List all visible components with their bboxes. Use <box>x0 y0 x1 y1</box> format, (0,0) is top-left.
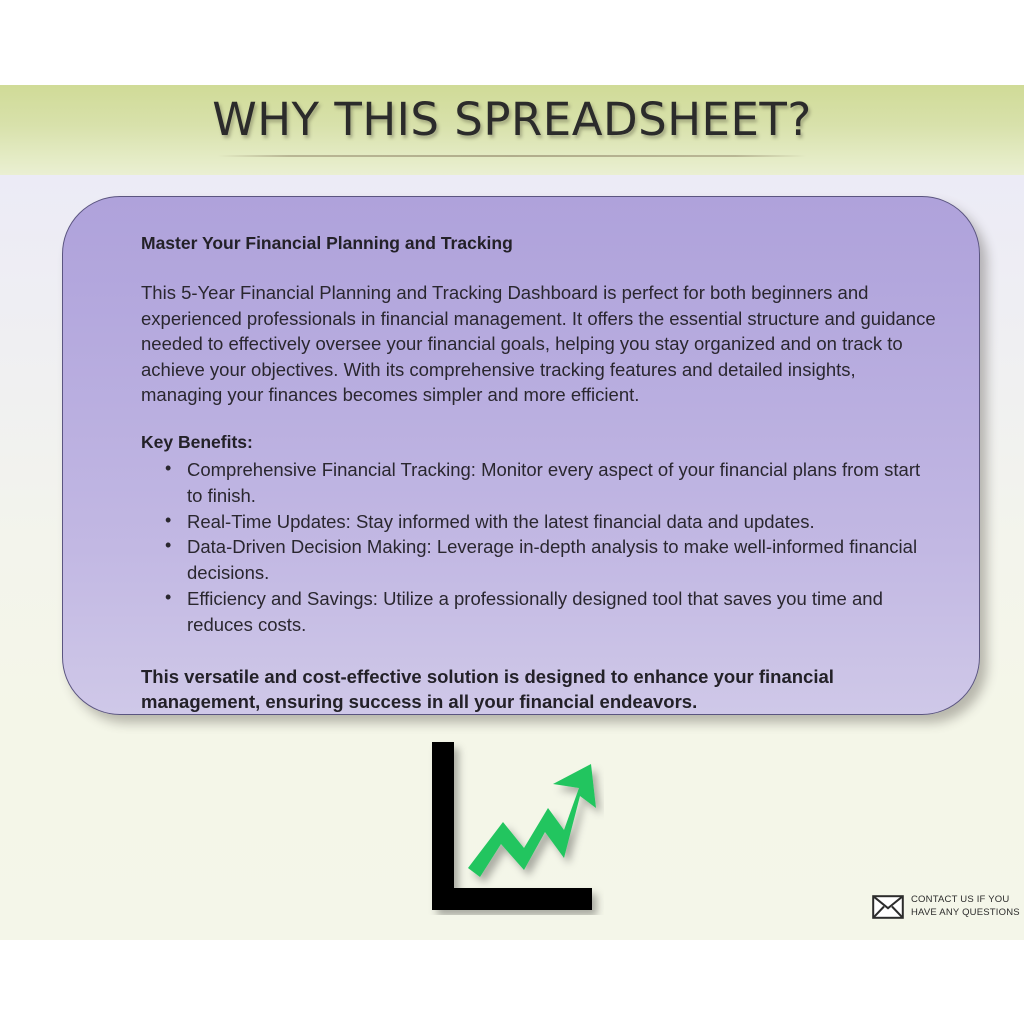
list-item-label: Real-Time Updates: Stay informed with th… <box>187 511 815 532</box>
closing-statement: This versatile and cost-effective soluti… <box>141 664 939 715</box>
contact-text: CONTACT US IF YOU HAVE ANY QUESTIONS <box>911 894 1020 919</box>
list-item: •Comprehensive Financial Tracking: Monit… <box>165 457 939 509</box>
card-inner: Master Your Financial Planning and Track… <box>83 233 939 715</box>
key-benefits-heading: Key Benefits: <box>141 432 939 453</box>
envelope-icon <box>872 895 904 919</box>
list-item: •Real-Time Updates: Stay informed with t… <box>165 509 939 535</box>
bullet-glyph: • <box>165 508 171 534</box>
bullet-glyph: • <box>165 456 171 482</box>
list-item-label: Efficiency and Savings: Utilize a profes… <box>187 588 883 635</box>
page-title: WHY THIS SPREADSHEET? <box>0 93 1024 146</box>
list-item-label: Data-Driven Decision Making: Leverage in… <box>187 536 917 583</box>
content-card: Master Your Financial Planning and Track… <box>62 196 980 715</box>
slide-canvas: WHY THIS SPREADSHEET? Master Your Financ… <box>0 0 1024 1024</box>
contact-line-2: HAVE ANY QUESTIONS <box>911 907 1020 920</box>
contact-block[interactable]: CONTACT US IF YOU HAVE ANY QUESTIONS <box>872 894 1020 919</box>
key-benefits-list: •Comprehensive Financial Tracking: Monit… <box>83 457 939 638</box>
intro-paragraph: This 5-Year Financial Planning and Track… <box>141 280 939 408</box>
bullet-glyph: • <box>165 533 171 559</box>
growth-arrow-shape <box>468 764 596 877</box>
list-item: •Efficiency and Savings: Utilize a profe… <box>165 586 939 638</box>
list-item-label: Comprehensive Financial Tracking: Monito… <box>187 459 920 506</box>
growth-chart-icon <box>424 740 604 915</box>
list-item: •Data-Driven Decision Making: Leverage i… <box>165 534 939 586</box>
title-underline-rule <box>218 155 806 157</box>
bullet-glyph: • <box>165 585 171 611</box>
lead-heading: Master Your Financial Planning and Track… <box>141 233 939 254</box>
contact-line-1: CONTACT US IF YOU <box>911 894 1020 907</box>
